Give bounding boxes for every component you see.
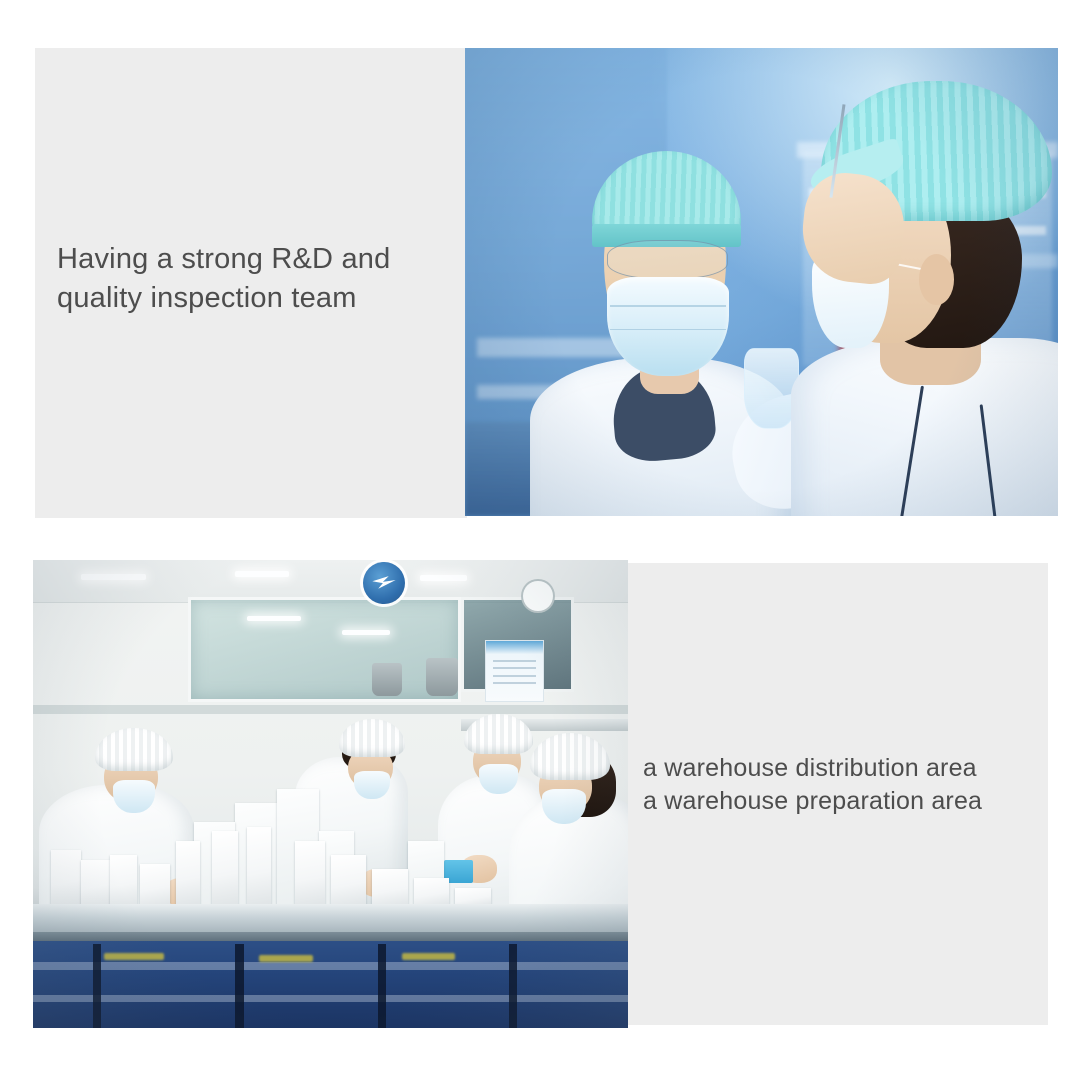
photo-warehouse-packing: [33, 560, 628, 1028]
photo-lab-quality-inspection: [465, 48, 1058, 516]
photo-vignette: [465, 48, 1058, 516]
caption-text-rnd: Having a strong R&D and quality inspecti…: [57, 240, 457, 317]
caption-text-warehouse: a warehouse distribution area a warehous…: [643, 752, 1053, 819]
collage-page: Having a strong R&D and quality inspecti…: [0, 0, 1080, 1080]
photo-vignette: [33, 560, 628, 1028]
